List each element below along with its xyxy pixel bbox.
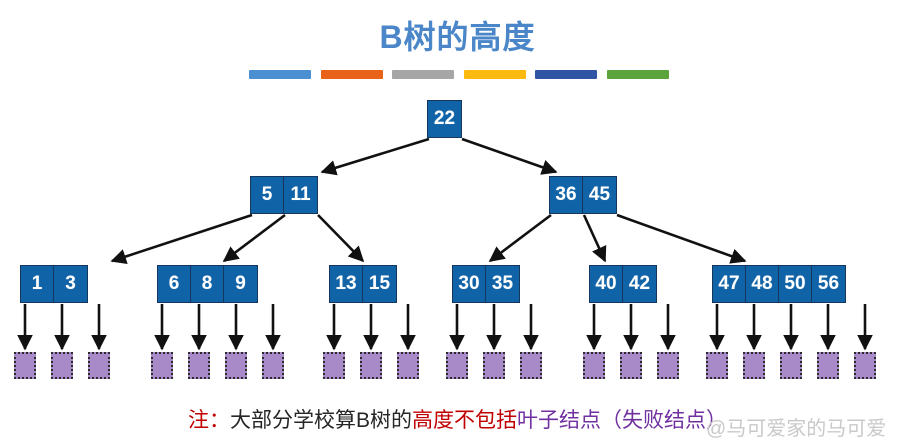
node-key-cell: 11 [284,177,317,213]
failure-node [854,352,876,379]
decorative-bar-row [249,70,669,80]
caption-prefix: 注： [188,409,230,432]
bar-gray [392,70,454,79]
node-key-cell: 47 [713,266,746,302]
node-key-cell: 9 [224,266,257,302]
tree-node-root: 22 [427,100,462,138]
node-key-cell: 3 [54,266,87,302]
tree-node-internal-0: 511 [250,176,318,214]
node-key-cell: 48 [746,266,779,302]
failure-node [51,352,73,379]
failure-node [14,352,36,379]
tree-node-leaf-2: 1315 [329,265,397,303]
failure-node [446,352,468,379]
diagram-canvas: B树的高度 22511364513689131530354042474850 [0,0,915,445]
tree-node-leaf-3: 3035 [452,265,520,303]
failure-node [397,352,419,379]
node-key-cell: 13 [330,266,363,302]
caption: 注：大部分学校算B树的高度不包括叶子结点（失败结点） [0,408,915,433]
tree-node-leaf-4: 4042 [589,265,657,303]
node-key-cell: 5 [251,177,284,213]
caption-purple-1: 叶子结点（失败结点） [517,409,727,432]
bar-green [607,70,669,79]
failure-node [657,352,679,379]
failure-node [151,352,173,379]
bar-darkblue [535,70,597,79]
node-key-cell: 30 [453,266,486,302]
failure-node [188,352,210,379]
bar-yellow [464,70,526,79]
tree-node-internal-1: 3645 [549,176,617,214]
node-key-cell: 22 [428,101,461,137]
bar-blue [249,70,311,79]
node-key-cell: 6 [158,266,191,302]
tree-node-leaf-0: 13 [20,265,88,303]
node-key-cell: 50 [779,266,812,302]
node-key-cell: 15 [363,266,396,302]
tree-node-leaf-1: 689 [157,265,258,303]
caption-black-1: 大部分学校算B树的 [230,409,412,432]
failure-node [323,352,345,379]
bar-orange [321,70,383,79]
node-key-cell: 40 [590,266,623,302]
failure-node [225,352,247,379]
failure-node [706,352,728,379]
failure-node [520,352,542,379]
failure-node [583,352,605,379]
failure-node [360,352,382,379]
failure-node [780,352,802,379]
node-key-cell: 1 [21,266,54,302]
page-title: B树的高度 [0,12,915,58]
caption-red-1: 高度不包括 [412,409,517,432]
failure-node [483,352,505,379]
node-key-cell: 42 [623,266,656,302]
node-key-cell: 35 [486,266,519,302]
failure-node [620,352,642,379]
failure-node [262,352,284,379]
tree-node-leaf-5: 47485056 [712,265,846,303]
node-key-cell: 45 [583,177,616,213]
node-key-cell: 56 [812,266,845,302]
failure-node [743,352,765,379]
node-key-cell: 36 [550,177,583,213]
node-key-cell: 8 [191,266,224,302]
failure-node [817,352,839,379]
failure-node [88,352,110,379]
